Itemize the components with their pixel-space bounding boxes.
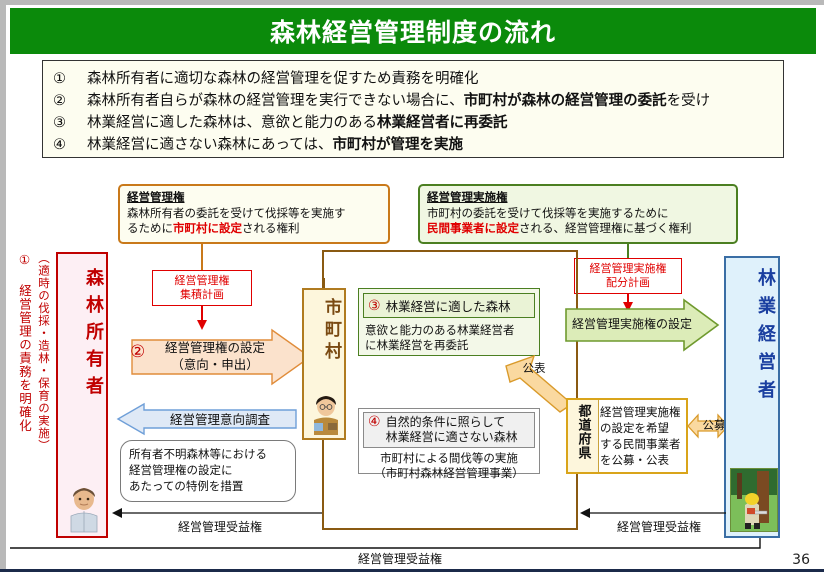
box4-heading-line1: 自然的条件に照らして — [386, 415, 506, 429]
municipality-staff-avatar-icon — [310, 395, 342, 435]
bullet-number: ② — [53, 91, 87, 111]
note-line3: あたっての特例を措置 — [129, 479, 243, 493]
prefecture-line1: 経営管理実施権 — [600, 405, 681, 419]
plan-line2: 集積計画 — [180, 288, 224, 302]
unsuitable-forest-box: ④ 自然的条件に照らして 林業経営に適さない森林 市町村による間伐等の実施 （市… — [358, 408, 540, 474]
connector-right-definition — [627, 244, 629, 258]
bullet-row: ③ 林業経営に適した森林は、意欲と能力のある林業経営者に再委託 — [53, 113, 779, 133]
page-title: 森林経営管理制度の流れ — [270, 13, 556, 49]
kohyo-arrow-label: 公表 — [512, 360, 556, 378]
page-number: 36 — [792, 552, 810, 568]
box3-line2: に林業経営を再委託 — [365, 338, 469, 352]
bullet-row: ① 森林所有者に適切な森林の経営管理を促すため責務を明確化 — [53, 69, 779, 89]
prefecture-line2: の設定を希望 — [600, 421, 669, 435]
box4-line2: （市町村森林経営管理事業） — [374, 466, 524, 480]
forest-owner-avatar-icon — [66, 486, 102, 532]
box3-heading: ③ 林業経営に適した森林 — [363, 293, 535, 318]
definition-heading: 経営管理権 — [127, 190, 381, 205]
benefit-label-left: 経営管理受益権 — [130, 518, 310, 535]
owner-responsibility-note: ① 経営管理の責務を明確化 （適時の伐採・造林・保育の実施） — [10, 252, 54, 538]
survey-arrow-label: 経営管理意向調査 — [150, 409, 290, 428]
box4-body: 市町村による間伐等の実施 （市町村森林経営管理事業） — [359, 448, 539, 481]
connector-left-definition — [201, 244, 203, 270]
set-management-arrow-label: 経営管理権の設定 （意向・申出） — [140, 339, 290, 373]
note-line2: 経営管理権の設定に — [129, 463, 233, 477]
frame-top-border — [0, 0, 824, 5]
frame-left-inner — [6, 5, 8, 570]
forestry-operator-label: 林業経営者 — [726, 268, 778, 408]
prefecture-line4: を公募・公表 — [600, 453, 669, 467]
box4-line1: 市町村による間伐等の実施 — [380, 451, 518, 465]
flow-number-3: ③ — [368, 298, 381, 314]
box3-line1: 意欲と能力のある林業経営者 — [365, 323, 515, 337]
prefecture-panel: 都道府県 経営管理実施権 の設定を希望 する民間事業者 を公募・公表 — [566, 398, 688, 474]
box3-heading-text: 林業経営に適した森林 — [386, 296, 511, 315]
arrow-line1: 経営管理権の設定 — [165, 340, 265, 355]
owner-note-col1: ① 経営管理の責務を明確化 — [16, 252, 32, 433]
set-management-right-arrow: ② 経営管理権の設定 （意向・申出） — [132, 330, 310, 384]
box4-heading-text: 自然的条件に照らして 林業経営に適さない森林 — [386, 415, 518, 445]
prefecture-label: 都道府県 — [574, 404, 593, 460]
plan-box-shuseki: 経営管理権 集積計画 — [152, 270, 252, 306]
prefecture-tab: 都道府県 — [568, 400, 599, 472]
municipality-label: 市町村 — [304, 298, 344, 364]
plan-line1: 経営管理実施権 — [590, 262, 667, 276]
bullet-number: ① — [53, 69, 87, 89]
summary-bullet-box: ① 森林所有者に適切な森林の経営管理を促すため責務を明確化 ② 森林所有者自らが… — [42, 60, 784, 158]
note-line1: 所有者不明森林等における — [129, 447, 267, 461]
management-intent-survey-arrow: 経営管理意向調査 — [118, 404, 296, 434]
bullet-text: 林業経営に適した森林は、意欲と能力のある林業経営者に再委託 — [87, 113, 779, 133]
box4-heading-line2: 林業経営に適さない森林 — [386, 430, 518, 444]
plan-left-down-arrow — [196, 306, 208, 332]
implement-arrow-label: 経営管理実施権の設定 — [570, 315, 694, 332]
forest-owner-label: 森林所有者 — [58, 268, 106, 403]
slide-canvas: 森林経営管理制度の流れ ① 森林所有者に適切な森林の経営管理を促すため責務を明確… — [0, 0, 824, 576]
unknown-owner-special-note: 所有者不明森林等における 経営管理権の設定に あたっての特例を措置 — [120, 440, 296, 502]
definition-line1: 森林所有者の委託を受けて伐採等を実施す — [127, 206, 346, 220]
logging-worker-image — [730, 468, 778, 532]
box3-body: 意欲と能力のある林業経営者 に林業経営を再委託 — [359, 318, 539, 353]
definition-line2b: される権利 — [242, 221, 300, 235]
bullet-number: ④ — [53, 135, 87, 155]
bullet-row: ② 森林所有者自らが森林の経営管理を実行できない場合に、市町村が森林の経営管理の… — [53, 91, 779, 111]
definition-highlight: 民間事業者に設定 — [427, 221, 519, 235]
definition-line2a: るために — [127, 221, 173, 235]
municipality-panel: 市町村 — [302, 288, 346, 440]
benefit-label-bottom: 経営管理受益権 — [300, 550, 500, 567]
bullet-text: 林業経営に適さない森林にあっては、市町村が管理を実施 — [87, 135, 779, 155]
owner-note-col2: （適時の伐採・造林・保育の実施） — [36, 252, 52, 452]
frame-bottom-border — [0, 569, 824, 572]
prefecture-line3: する民間事業者 — [600, 437, 681, 451]
flow-number-4: ④ — [368, 415, 381, 430]
bullet-number: ③ — [53, 113, 87, 133]
plan-box-haibun: 経営管理実施権 配分計画 — [574, 258, 682, 294]
plan-line1: 経営管理権 — [175, 274, 230, 288]
slide-title-band: 森林経営管理制度の流れ — [10, 8, 816, 54]
definition-jisshiken: 経営管理実施権 市町村の委託を受けて伐採等を実施するために 民間事業者に設定され… — [418, 184, 738, 244]
bullet-text: 森林所有者に適切な森林の経営管理を促すため責務を明確化 — [87, 69, 779, 89]
definition-line1: 市町村の委託を受けて伐採等を実施するために — [427, 206, 669, 220]
benefit-label-right: 経営管理受益権 — [584, 518, 734, 535]
implement-right-arrow: 経営管理実施権の設定 — [566, 300, 718, 350]
suitable-forest-box: ③ 林業経営に適した森林 意欲と能力のある林業経営者 に林業経営を再委託 — [358, 288, 540, 356]
definition-highlight: 市町村に設定 — [173, 221, 242, 235]
definition-heading: 経営管理実施権 — [427, 190, 729, 205]
definition-line2b: される、経営管理権に基づく権利 — [519, 221, 692, 235]
bullet-row: ④ 林業経営に適さない森林にあっては、市町村が管理を実施 — [53, 135, 779, 155]
box4-heading: ④ 自然的条件に照らして 林業経営に適さない森林 — [363, 412, 535, 448]
bullet-text: 森林所有者自らが森林の経営管理を実行できない場合に、市町村が森林の経営管理の委託… — [87, 91, 779, 111]
plan-line2: 配分計画 — [606, 276, 650, 290]
definition-keieikanriken: 経営管理権 森林所有者の委託を受けて伐採等を実施す るために市町村に設定される権… — [118, 184, 390, 244]
forest-owner-panel: 森林所有者 — [56, 252, 108, 538]
forestry-operator-panel: 林業経営者 — [724, 256, 780, 538]
arrow-line2: （意向・申出） — [171, 357, 259, 372]
prefecture-body: 経営管理実施権 の設定を希望 する民間事業者 を公募・公表 — [600, 404, 683, 468]
